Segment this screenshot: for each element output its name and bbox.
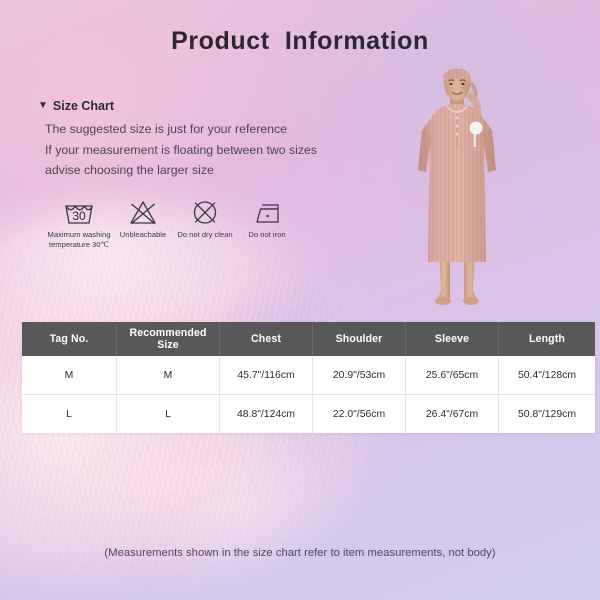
model-photo [392,52,522,310]
product-information-page: Product Information ▼ Size Chart The sug… [0,0,600,600]
size-chart-note-line: If your measurement is floating between … [45,140,317,161]
cell-shoulder: 20.9"/53cm [313,356,406,395]
size-chart-notes: The suggested size is just for your refe… [45,119,317,181]
column-header-length: Length [499,322,596,356]
cell-chest: 48.8"/124cm [220,395,313,434]
cell-sleeve: 26.4"/67cm [406,395,499,434]
wash-temperature-value: 30 [72,209,86,223]
cell-recommended-size: M [117,356,220,395]
size-chart-section-header: ▼ Size Chart [38,99,114,113]
cell-length: 50.4"/128cm [499,356,596,395]
column-header-recommended-size: Recommended Size [117,322,220,356]
care-instruction-no-iron: Do not iron [236,196,298,240]
cell-shoulder: 22.0"/56cm [313,395,406,434]
column-header-shoulder: Shoulder [313,322,406,356]
size-chart-note-line: advise choosing the larger size [45,160,317,181]
care-instruction-no-dry-clean: Do not dry clean [174,196,236,240]
cell-recommended-size: L [117,395,220,434]
care-instruction-unbleachable: Unbleachable [112,196,174,240]
cell-sleeve: 25.6"/65cm [406,356,499,395]
size-chart-note-line: The suggested size is just for your refe… [45,119,317,140]
wash-tub-30-icon: 30 [62,196,96,228]
table-header-row: Tag No. Recommended Size Chest Shoulder … [22,322,595,356]
care-instructions-row: 30 Maximum washing temperature 30℃ Unble… [46,196,298,249]
column-header-chest: Chest [220,322,313,356]
size-chart-table: Tag No. Recommended Size Chest Shoulder … [22,322,595,433]
care-instruction-label: Do not dry clean [177,230,232,240]
triangle-down-icon: ▼ [38,101,48,111]
table-row: L L 48.8"/124cm 22.0"/56cm 26.4"/67cm 50… [22,395,595,434]
cell-tag-no: M [22,356,117,395]
size-chart-label: Size Chart [53,99,114,113]
cell-tag-no: L [22,395,117,434]
care-instruction-label: Do not iron [248,230,285,240]
cell-length: 50.8"/129cm [499,395,596,434]
measurements-footnote: (Measurements shown in the size chart re… [0,547,600,559]
no-bleach-triangle-icon [128,196,158,228]
care-instruction-max-wash-temperature: 30 Maximum washing temperature 30℃ [46,196,112,249]
column-header-tag-no: Tag No. [22,322,117,356]
cell-chest: 45.7"/116cm [220,356,313,395]
column-header-sleeve: Sleeve [406,322,499,356]
no-iron-icon [251,196,283,228]
no-dry-clean-circle-icon [190,196,220,228]
table-row: M M 45.7"/116cm 20.9"/53cm 25.6"/65cm 50… [22,356,595,395]
care-instruction-label: Maximum washing temperature 30℃ [48,230,111,249]
care-instruction-label: Unbleachable [120,230,166,240]
